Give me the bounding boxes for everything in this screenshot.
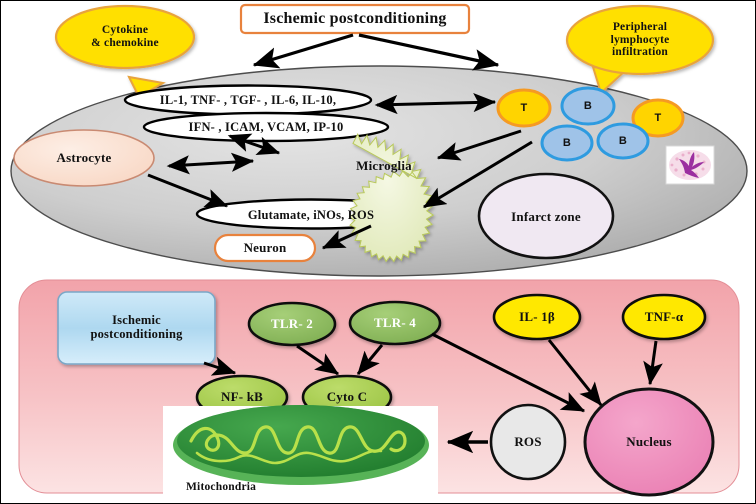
infarct-zone[interactable]	[479, 174, 613, 258]
b-cell-3[interactable]	[598, 124, 648, 158]
astrocyte[interactable]	[14, 130, 154, 186]
neuron[interactable]	[215, 235, 315, 261]
tlr-4-node[interactable]	[350, 302, 440, 344]
tlr-2-node[interactable]	[249, 303, 335, 345]
cytokine-list-1[interactable]	[125, 86, 371, 115]
t-cell-1[interactable]	[498, 90, 550, 126]
ros-node[interactable]	[491, 405, 565, 479]
figure-root: Ischemic postconditioning Cytokine & che…	[0, 0, 756, 504]
ischemic-postconditioning-box[interactable]	[58, 292, 215, 364]
title-box[interactable]	[241, 5, 469, 33]
mitochondria-image	[163, 405, 438, 500]
b-cell-2[interactable]	[542, 126, 592, 160]
nucleus-node[interactable]	[585, 389, 713, 495]
title-arrows	[254, 35, 498, 65]
lymphocyte-micrograph	[666, 146, 714, 184]
diagram-canvas	[1, 1, 756, 504]
peripheral-lymphocyte-callout[interactable]	[567, 6, 713, 93]
cytokine-list-2[interactable]	[144, 113, 388, 141]
il-1-beta-node[interactable]	[494, 295, 580, 339]
b-cell-1[interactable]	[562, 88, 614, 124]
tnf-alpha-node[interactable]	[623, 295, 705, 339]
